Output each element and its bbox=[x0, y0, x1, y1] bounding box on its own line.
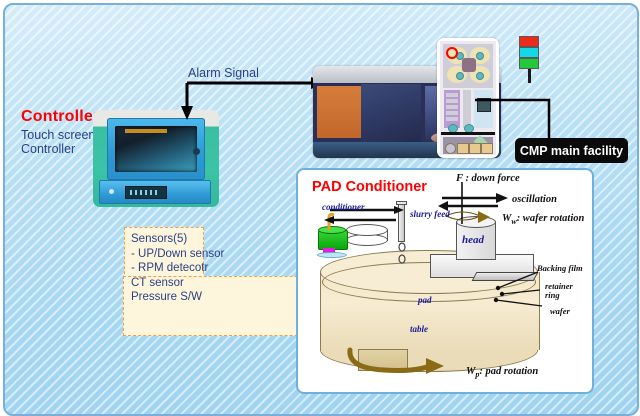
label-slurry-feed: slurry feed bbox=[410, 209, 450, 219]
wafer-rotation-text: : wafer rotation bbox=[517, 213, 585, 224]
controller-title: Controller bbox=[21, 108, 99, 126]
schematic-button-1 bbox=[457, 143, 469, 154]
pad-rotation-symbol: W bbox=[466, 366, 475, 377]
schematic-node-3 bbox=[456, 72, 464, 80]
pad-rotation-text: : pad rotation bbox=[479, 366, 538, 377]
screen-status-line bbox=[125, 129, 167, 133]
controller-led bbox=[109, 189, 114, 194]
head-force-arrows-icon bbox=[440, 182, 548, 234]
machine-window bbox=[361, 84, 421, 142]
controller-subtitle: Touch screen Controller bbox=[21, 128, 95, 156]
label-down-force: F : down force bbox=[456, 173, 520, 184]
label-oscillation: oscillation bbox=[512, 194, 557, 205]
cmp-main-facility-tag: CMP main facility bbox=[515, 138, 628, 163]
pad-conditioner-panel: PAD Conditioner bbox=[296, 168, 594, 394]
touch-screen-controller-photo bbox=[93, 110, 219, 207]
tower-lamp-green bbox=[519, 58, 539, 69]
controller-base bbox=[99, 180, 211, 204]
schematic-button-power bbox=[445, 143, 456, 154]
sensor-list-text: Sensors(5) - UP/Down sensor - RPM deteco… bbox=[131, 232, 224, 305]
alarm-signal-arrows bbox=[175, 60, 335, 120]
diagram-stage: Controller Touch screen Controller Alarm… bbox=[3, 3, 639, 416]
wafer-rotation-symbol: W bbox=[502, 213, 511, 224]
tower-pole bbox=[528, 69, 531, 83]
pad-rotation-arrow-icon bbox=[344, 346, 454, 378]
controller-screen bbox=[115, 126, 197, 172]
schematic-node-4 bbox=[476, 72, 484, 80]
schematic-track bbox=[463, 90, 471, 128]
controller-keypad bbox=[125, 186, 167, 199]
schematic-node-2 bbox=[476, 52, 484, 60]
label-retainer-ring: retainer ring bbox=[545, 282, 573, 300]
label-head: head bbox=[462, 234, 484, 246]
label-pad: pad bbox=[418, 295, 432, 305]
controller-knob bbox=[193, 148, 200, 155]
slurry-droplets-icon bbox=[397, 242, 415, 268]
signal-tower bbox=[519, 33, 541, 81]
tower-lamp-red bbox=[519, 36, 539, 47]
label-conditioner: conditioner bbox=[322, 202, 365, 212]
screenshot-root: Controller Touch screen Controller Alarm… bbox=[0, 0, 640, 416]
schematic-robot-hub bbox=[462, 58, 476, 72]
pad-conditioner-title: PAD Conditioner bbox=[312, 179, 427, 195]
machine-orange-bay bbox=[317, 86, 361, 138]
controller-casing bbox=[107, 118, 205, 180]
tower-lamp-cyan bbox=[519, 47, 539, 58]
label-pad-rotation: Wp: pad rotation bbox=[466, 366, 538, 379]
label-wafer: wafer bbox=[550, 306, 570, 316]
conditioner-contact-pad bbox=[317, 252, 347, 258]
schematic-alert-highlight bbox=[446, 47, 458, 59]
label-backing-film: Backing film bbox=[537, 263, 583, 273]
label-table: table bbox=[410, 324, 428, 334]
label-wafer-rotation: Ww: wafer rotation bbox=[502, 213, 584, 226]
